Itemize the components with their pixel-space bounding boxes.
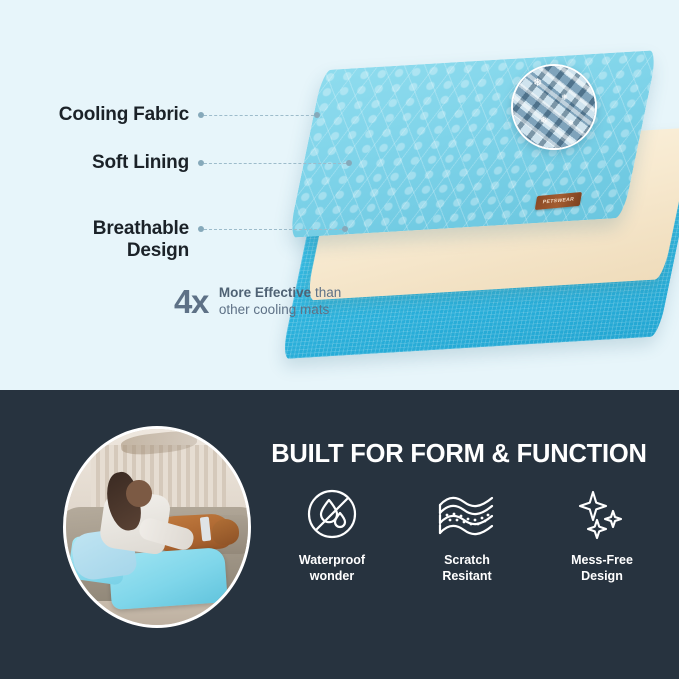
snowflake-icon: ❄ xyxy=(533,78,542,89)
effectiveness-line-1: More Effective than xyxy=(219,284,341,301)
photo-dog-collar xyxy=(199,517,211,541)
leader-line xyxy=(198,159,352,168)
callout-soft-lining: Soft Lining xyxy=(41,152,352,174)
brand-tag-text: PETSWEAR xyxy=(542,197,574,206)
fabric-weave-zoom-circle: ❄ ❄ ❄ ❄ xyxy=(511,64,597,150)
feature-mess-free: Mess-Free Design xyxy=(542,485,662,584)
leader-dot-end xyxy=(346,160,352,166)
snowflake-icon: ❄ xyxy=(568,120,574,127)
effectiveness-line-2: other cooling mats xyxy=(219,301,341,318)
lifestyle-photo xyxy=(63,426,251,628)
effectiveness-multiplier: 4x xyxy=(174,285,208,318)
leader-dash xyxy=(204,163,346,164)
waterproof-droplet-slash-icon xyxy=(305,485,359,543)
feature-scratch-resistant: Scratch Resitant xyxy=(407,485,527,584)
product-infographic: PETSWEAR ❄ ❄ ❄ ❄ Cooling Fabric Soft Lin xyxy=(0,0,679,679)
effectiveness-copy: More Effective than other cooling mats xyxy=(219,284,341,319)
quilted-pattern xyxy=(288,50,657,238)
feature-label: Waterproof wonder xyxy=(299,553,365,584)
callout-cooling-fabric: Cooling Fabric xyxy=(41,104,320,126)
snowflake-icon: ❄ xyxy=(561,94,568,102)
feature-label: Mess-Free Design xyxy=(571,553,633,584)
feature-label: Scratch Resitant xyxy=(442,553,491,584)
callout-label: Cooling Fabric xyxy=(41,104,189,126)
leader-line xyxy=(198,225,348,234)
leader-dash xyxy=(204,229,342,230)
mess-free-sparkles-icon xyxy=(574,485,630,543)
feature-waterproof: Waterproof wonder xyxy=(272,485,392,584)
cooling-layer-surface: PETSWEAR xyxy=(288,50,657,238)
photo-person-head xyxy=(126,480,151,507)
fabric-weave-texture xyxy=(513,66,595,148)
cooling-fabric-layer: PETSWEAR xyxy=(288,50,657,238)
effectiveness-rest: than xyxy=(311,285,341,300)
feature-list: Waterproof wonder xyxy=(272,485,662,584)
photo-dog-head xyxy=(212,519,239,544)
snowflake-icon: ❄ xyxy=(540,116,548,125)
leader-dot-end xyxy=(342,226,348,232)
effectiveness-claim: 4x More Effective than other cooling mat… xyxy=(174,284,341,319)
scratch-resistant-fabric-icon xyxy=(436,485,498,543)
leader-dot-end xyxy=(314,112,320,118)
layers-section: PETSWEAR ❄ ❄ ❄ ❄ Cooling Fabric Soft Lin xyxy=(0,0,679,390)
leader-dash xyxy=(204,115,314,116)
callout-breathable-design: Breathable Design xyxy=(41,218,348,263)
callout-label: Soft Lining xyxy=(41,152,189,174)
leader-line xyxy=(198,111,320,120)
section-headline: BUILT FOR FORM & FUNCTION xyxy=(259,440,659,469)
callout-label: Breathable Design xyxy=(41,218,189,263)
effectiveness-strong: More Effective xyxy=(219,285,311,300)
